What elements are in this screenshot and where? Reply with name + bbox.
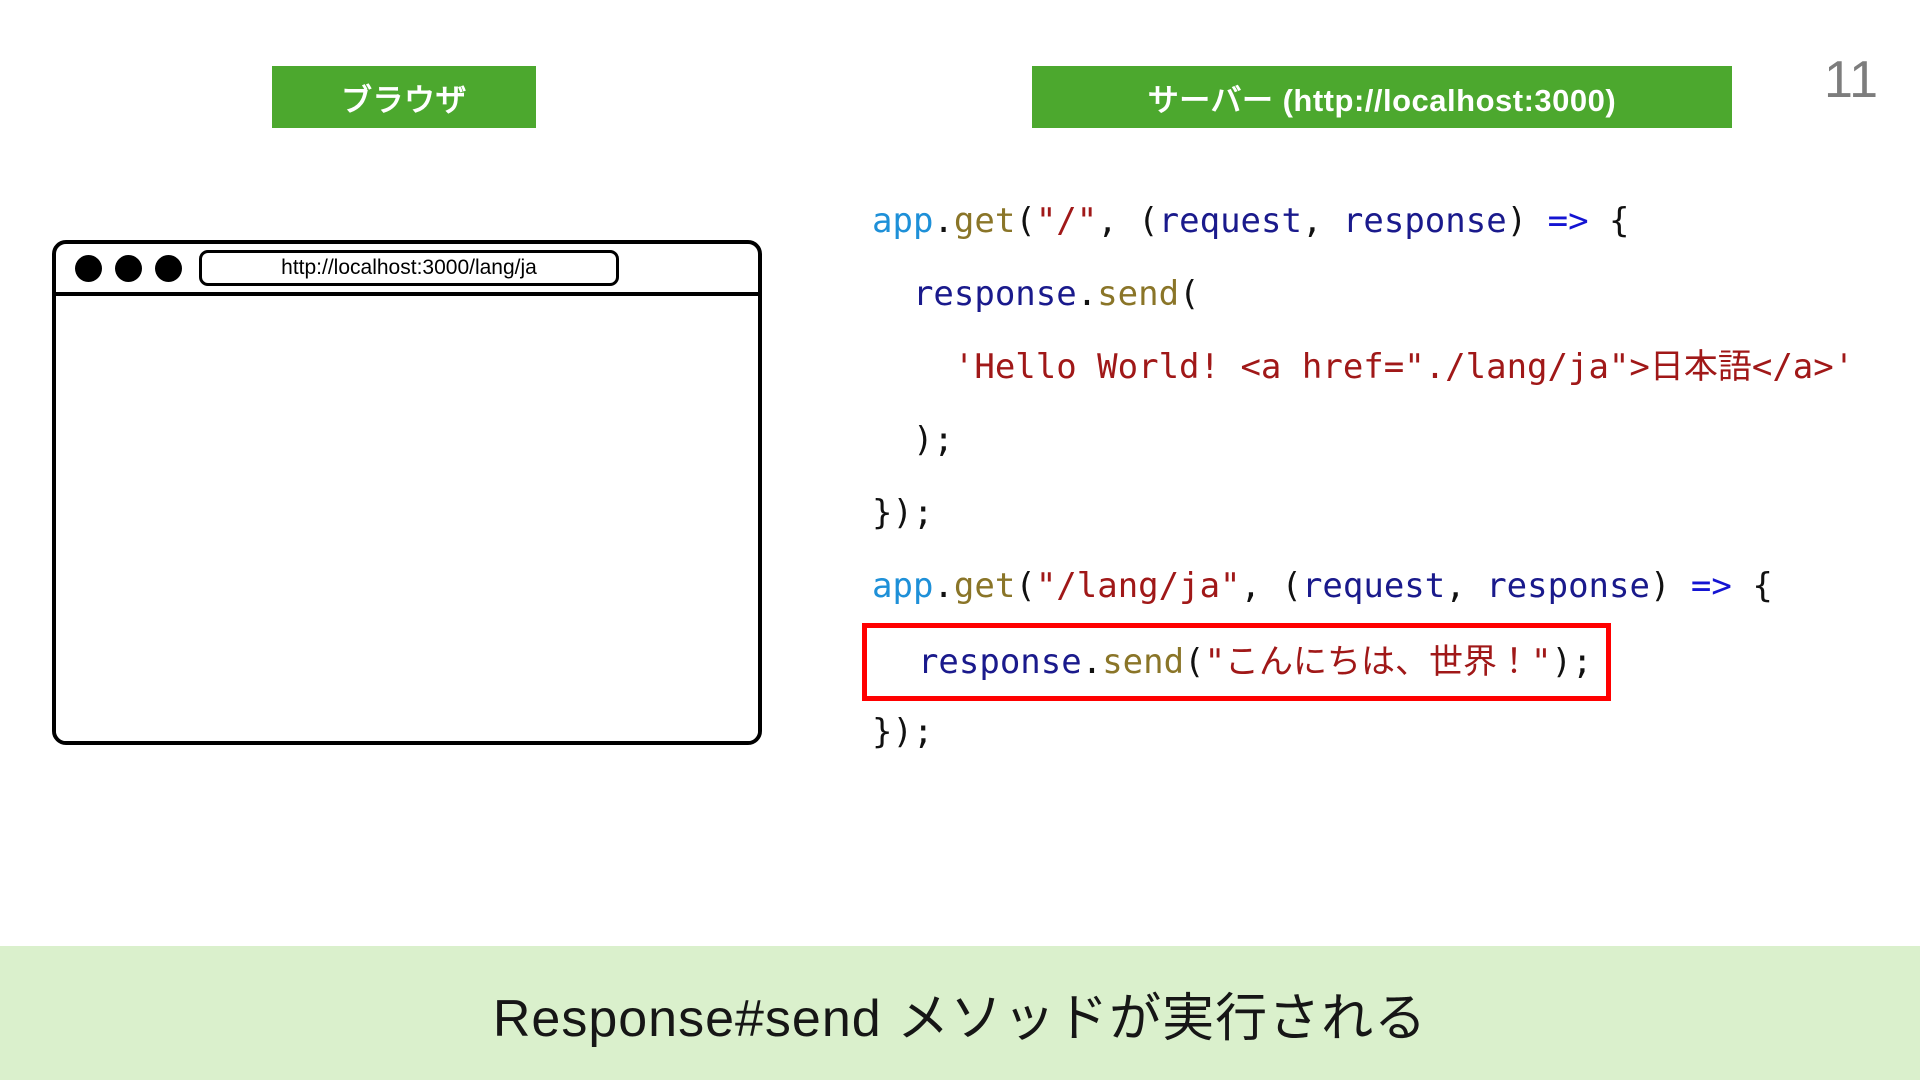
code-token-punc: , [1445,566,1486,606]
code-token-fn: get [954,201,1015,241]
code-line: app.get("/", (request, response) => { [872,185,1854,258]
caption-text: Response#send メソッドが実行される [493,976,1427,1051]
code-token-punc [872,274,913,314]
code-token-param: response [913,274,1077,314]
code-token-punc: }); [872,493,933,533]
code-token-arrow: => [1691,566,1732,606]
code-token-punc: ); [872,420,954,460]
server-section-banner: サーバー (http://localhost:3000) [1032,66,1732,128]
code-token-param: response [1486,566,1650,606]
code-token-punc: { [1589,201,1630,241]
browser-window-controls [75,255,182,282]
server-code-block: app.get("/", (request, response) => { re… [872,185,1854,769]
window-close-dot-icon[interactable] [75,255,102,282]
code-line: app.get("/lang/ja", (request, response) … [872,550,1854,623]
code-token-str: "/lang/ja" [1036,566,1241,606]
code-token-punc: . [933,566,953,606]
code-token-punc: }); [872,712,933,752]
caption-bar: Response#send メソッドが実行される [0,946,1920,1080]
page-number: 11 [1824,54,1878,106]
window-maximize-dot-icon[interactable] [155,255,182,282]
code-token-str: "こんにちは、世界！" [1205,642,1552,682]
code-token-obj: app [872,566,933,606]
browser-address-bar[interactable]: http://localhost:3000/lang/ja [199,250,619,286]
code-token-punc: ( [1015,201,1035,241]
browser-url-text: http://localhost:3000/lang/ja [281,256,537,280]
code-token-fn: send [1097,274,1179,314]
code-token-param: request [1159,201,1302,241]
code-token-punc [877,642,918,682]
code-token-fn: send [1102,642,1184,682]
code-line-wrapper: response.send("こんにちは、世界！"); [872,623,1854,696]
code-token-obj: app [872,201,933,241]
code-token-punc: , ( [1097,201,1158,241]
code-token-punc: . [1082,642,1102,682]
code-token-punc: ( [1179,274,1199,314]
code-token-fn: get [954,566,1015,606]
browser-mock-window: http://localhost:3000/lang/ja [52,240,762,745]
browser-titlebar: http://localhost:3000/lang/ja [56,244,758,296]
code-token-punc: ) [1507,201,1548,241]
code-token-punc: . [933,201,953,241]
code-token-punc: , [1302,201,1343,241]
code-line: }); [872,477,1854,550]
server-banner-label: サーバー (http://localhost:3000) [1148,75,1616,120]
browser-banner-label: ブラウザ [341,75,467,120]
window-minimize-dot-icon[interactable] [115,255,142,282]
browser-viewport [56,296,758,741]
code-line: 'Hello World! <a href="./lang/ja">日本語</a… [872,331,1854,404]
code-token-arrow: => [1548,201,1589,241]
code-line: }); [872,696,1854,769]
code-token-punc: { [1732,566,1773,606]
code-token-punc: . [1077,274,1097,314]
code-line-highlighted: response.send("こんにちは、世界！"); [862,623,1611,701]
code-token-punc: ( [1015,566,1035,606]
code-token-punc: , ( [1241,566,1302,606]
code-token-punc: ); [1552,642,1593,682]
code-token-punc: ( [1184,642,1204,682]
code-token-str: "/" [1036,201,1097,241]
code-token-param: request [1302,566,1445,606]
code-line: response.send( [872,258,1854,331]
code-token-param: response [918,642,1082,682]
code-line: ); [872,404,1854,477]
code-token-punc: ) [1650,566,1691,606]
code-token-str: 'Hello World! <a href="./lang/ja">日本語</a… [954,347,1854,387]
browser-section-banner: ブラウザ [272,66,536,128]
code-token-param: response [1343,201,1507,241]
code-token-punc [872,347,954,387]
